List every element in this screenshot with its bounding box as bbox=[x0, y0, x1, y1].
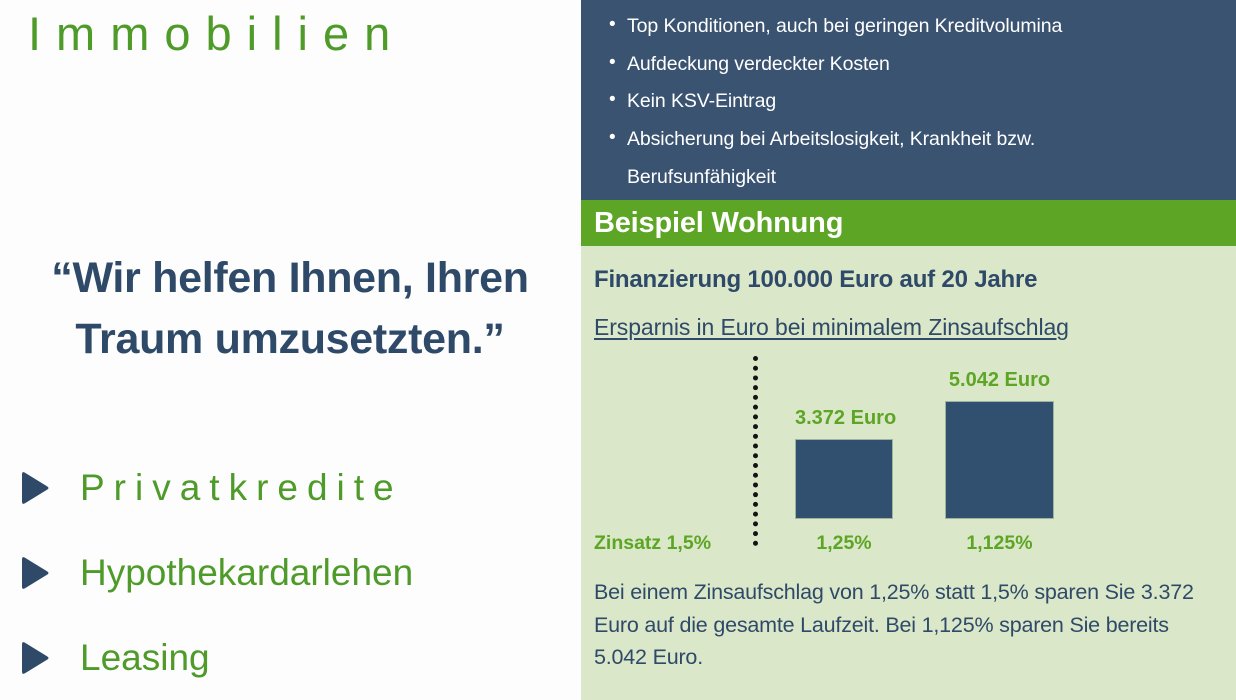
headline-quote: “Wir helfen Ihnen, Ihren Traum umzusetzt… bbox=[20, 248, 560, 370]
chart-divider bbox=[753, 356, 758, 546]
table-row bbox=[795, 439, 893, 519]
left-panel: Immobilien “Wir helfen Ihnen, Ihren Trau… bbox=[0, 0, 581, 700]
service-label: Privatkredite bbox=[80, 469, 403, 506]
summary-paragraph: Bei einem Zinsaufschlag von 1,25% statt … bbox=[594, 576, 1194, 674]
axis-tick-label: 1,25% bbox=[795, 534, 893, 554]
bar-value-label: 5.042 Euro bbox=[945, 370, 1054, 390]
benefits-panel: Top Konditionen, auch bei geringen Kredi… bbox=[581, 0, 1236, 200]
list-item: Absicherung bei Arbeitslosigkeit, Krankh… bbox=[595, 121, 1218, 159]
services-list: Privatkredite Hypothekardarlehen Leasing bbox=[0, 445, 560, 700]
axis-tick-label: 1,125% bbox=[945, 534, 1054, 554]
axis-tick-label-baseline: Zinsatz 1,5% bbox=[594, 534, 744, 554]
triangle-right-icon bbox=[17, 470, 51, 506]
triangle-right-icon bbox=[17, 555, 51, 591]
list-item[interactable]: Leasing bbox=[0, 615, 560, 700]
list-item[interactable]: Privatkredite bbox=[0, 445, 560, 530]
right-panel: Top Konditionen, auch bei geringen Kredi… bbox=[581, 0, 1236, 700]
benefits-list: Top Konditionen, auch bei geringen Kredi… bbox=[595, 8, 1218, 159]
list-item: Aufdeckung verdeckter Kosten bbox=[595, 46, 1218, 84]
slide-root: Immobilien “Wir helfen Ihnen, Ihren Trau… bbox=[0, 0, 1236, 700]
section-title: Beispiel Wohnung bbox=[594, 209, 843, 238]
service-label: Hypothekardarlehen bbox=[80, 554, 413, 591]
section-header-bar: Beispiel Wohnung bbox=[581, 200, 1236, 246]
list-item: Kein KSV-Eintrag bbox=[595, 83, 1218, 121]
triangle-right-icon bbox=[17, 640, 51, 676]
service-label: Leasing bbox=[80, 639, 210, 676]
financing-heading: Finanzierung 100.000 Euro auf 20 Jahre bbox=[594, 268, 1037, 292]
table-row bbox=[945, 401, 1054, 519]
list-item-continuation: Berufsunfähigkeit bbox=[595, 159, 1218, 197]
page-title: Immobilien bbox=[28, 6, 405, 62]
example-body: Finanzierung 100.000 Euro auf 20 Jahre E… bbox=[581, 246, 1236, 700]
savings-bar-chart: 3.372 Euro 5.042 Euro Zinsatz 1,5% 1,25%… bbox=[581, 356, 1236, 566]
list-item: Top Konditionen, auch bei geringen Kredi… bbox=[595, 8, 1218, 46]
savings-subtitle: Ersparnis in Euro bei minimalem Zinsaufs… bbox=[594, 316, 1069, 339]
bar-value-label: 3.372 Euro bbox=[795, 408, 893, 428]
list-item[interactable]: Hypothekardarlehen bbox=[0, 530, 560, 615]
